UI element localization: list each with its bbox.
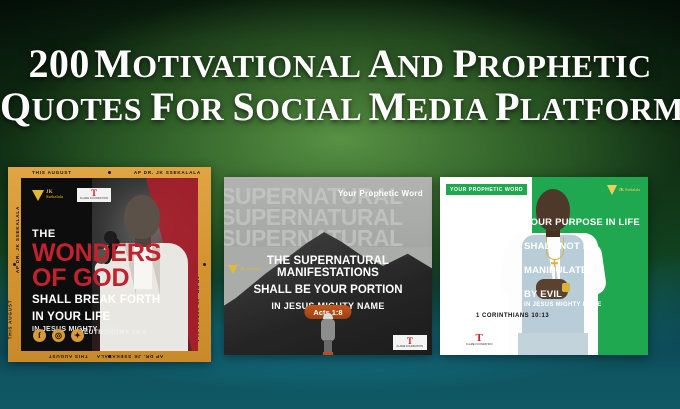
card3-logo-brand-name: Ssekalala xyxy=(625,187,640,192)
title-number: 200 xyxy=(29,41,90,86)
quote-card-wonders-of-god[interactable]: THIS AUGUST AP DR. JK SSEKALALA THIS AUG… xyxy=(8,167,211,362)
instagram-icon[interactable]: ◎ xyxy=(52,329,65,342)
facebook-icon[interactable]: f xyxy=(33,329,46,342)
card1-inner-canvas: JK Ssekalala T FLAME FOUNDATION THE WOND… xyxy=(21,178,198,351)
card1-border-text-bottom-left: THIS AUGUST xyxy=(48,354,88,359)
card3-flame-letter: T xyxy=(475,334,482,343)
title-line1: Motivational And Prophetic xyxy=(94,48,651,84)
card3-line-3: MANIPULATED xyxy=(524,265,642,276)
card1-logo-row: JK Ssekalala T FLAME FOUNDATION xyxy=(32,188,111,202)
page-title: 200 Motivational And Prophetic Quotes Fo… xyxy=(0,44,680,128)
card1-border-text-top-right: AP DR. JK SSEKALALA xyxy=(134,170,201,175)
card1-border-text-top-left: THIS AUGUST xyxy=(32,170,72,175)
card3-scripture-reference: 1 CORINTHIANS 10:13 xyxy=(476,313,549,319)
card1-text-block: THE WONDERS OF GOD SHALL BREAK FORTH IN … xyxy=(32,228,161,333)
card1-frame-dot-bottom xyxy=(108,355,111,358)
card1-frame-dot-top xyxy=(108,171,111,174)
jk-ssekalala-logo-icon: JK Ssekalala xyxy=(32,190,63,201)
card1-scripture-reference: DEUTRONOMY 28:8 xyxy=(79,329,147,336)
card1-frame-dot-left xyxy=(13,263,16,266)
jk-ssekalala-logo-icon: JK Ssekalala xyxy=(607,185,640,195)
card1-social-icons[interactable]: f ◎ ✦ xyxy=(33,329,84,342)
card2-flame-letter: T xyxy=(407,337,413,345)
card1-border-text-left-bottom: THIS AUGUST xyxy=(8,300,12,340)
card2-top-label: Your Prophetic Word xyxy=(338,189,423,198)
card3-line-1: YOUR PURPOSE IN LIFE xyxy=(524,217,642,228)
quote-card-your-purpose-in-life[interactable]: YOUR PROPHETIC WORD JK Ssekalala YOUR PU… xyxy=(440,177,648,355)
card2-hiker-figure xyxy=(320,313,336,355)
card1-border-text-bottom-right: AP DR. JK SSEKALALA xyxy=(96,354,163,359)
flame-foundation-logo-icon: T FLAME FOUNDATION xyxy=(466,334,492,346)
card1-flame-letter: T xyxy=(91,190,97,197)
poster-canvas: 200 Motivational And Prophetic Quotes Fo… xyxy=(0,0,680,409)
card1-sub-1: SHALL BREAK FORTH xyxy=(32,294,161,307)
card3-line-4: BY EVIL xyxy=(524,289,642,300)
twitter-icon[interactable]: ✦ xyxy=(71,329,84,342)
card2-line-2: SHALL BE YOUR PORTION xyxy=(224,284,432,296)
card1-frame-dot-right xyxy=(203,263,206,266)
card2-text-block: THE SUPERNATURAL MANIFESTATIONS SHALL BE… xyxy=(224,255,432,311)
card1-flame-sub: FLAME FOUNDATION xyxy=(80,197,108,200)
card3-logo-brand-top: JK xyxy=(619,187,624,192)
card2-line-1: THE SUPERNATURAL MANIFESTATIONS xyxy=(224,255,432,279)
card1-headline-2: OF GOD xyxy=(32,266,161,290)
flame-foundation-logo-icon: T FLAME FOUNDATION xyxy=(77,188,111,202)
card1-logo-brand-name: Ssekalala xyxy=(46,194,63,199)
quote-card-supernatural-manifestations[interactable]: SUPERNATURAL SUPERNATURAL SUPERNATURAL Y… xyxy=(224,177,432,355)
title-line2: Quotes For Social Media Platforms xyxy=(0,91,680,127)
card3-flame-sub: FLAME FOUNDATION xyxy=(466,343,492,346)
card3-tagline: IN JESUS MIGHTY NAME xyxy=(524,302,642,308)
card3-line-2: SHALL NOT BE xyxy=(524,241,642,252)
card2-flame-sub: FLAME FOUNDATION xyxy=(397,345,423,348)
card3-text-block: YOUR PURPOSE IN LIFE SHALL NOT BE MANIPU… xyxy=(524,217,642,308)
flame-foundation-logo-icon: T FLAME FOUNDATION xyxy=(393,335,427,350)
card1-sub-2: IN YOUR LIFE xyxy=(32,311,161,324)
card1-headline-1: WONDERS xyxy=(32,241,161,265)
